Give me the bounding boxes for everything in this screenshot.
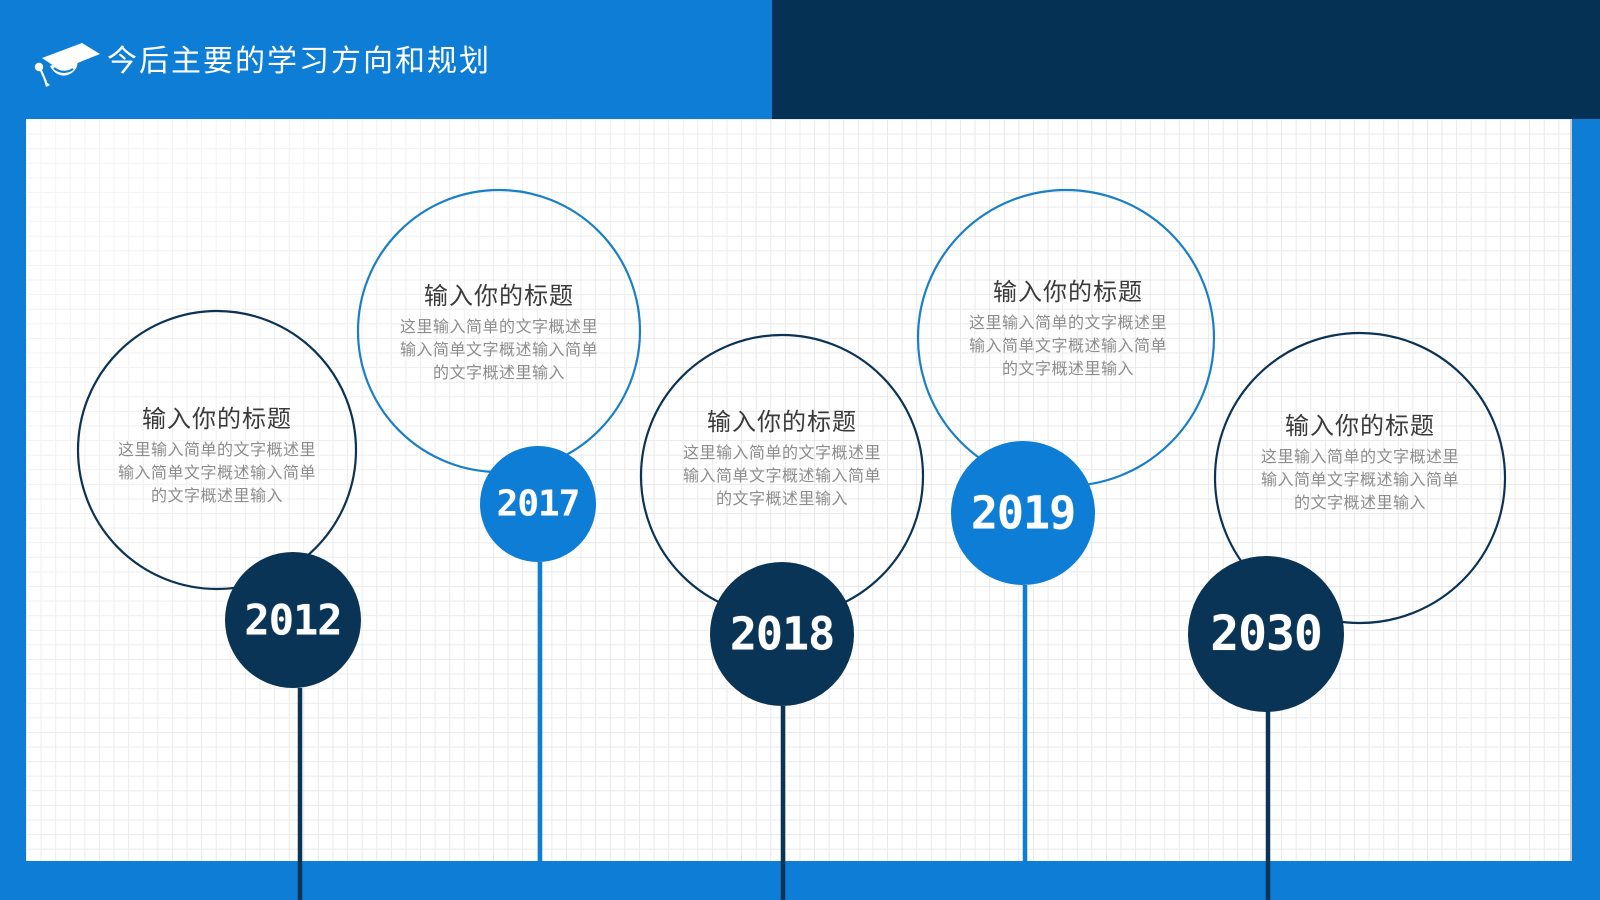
node-text-block-2030: 输入你的标题这里输入简单的文字概述里输入简单文字概述输入简单的文字概述里输入: [1221, 412, 1499, 515]
year-label-2017[interactable]: 2017: [497, 484, 580, 525]
node-body-line: 输入简单文字概述输入简单: [1221, 469, 1499, 492]
node-title-2019: 输入你的标题: [929, 278, 1207, 308]
node-body-line: 这里输入简单的文字概述里: [78, 439, 356, 462]
year-label-2012[interactable]: 2012: [244, 596, 341, 645]
node-body-2030: 这里输入简单的文字概述里输入简单文字概述输入简单的文字概述里输入: [1221, 446, 1499, 515]
node-body-line: 的文字概述里输入: [78, 485, 356, 508]
node-body-line: 这里输入简单的文字概述里: [643, 442, 921, 465]
node-text-block-2017: 输入你的标题这里输入简单的文字概述里输入简单文字概述输入简单的文字概述里输入: [360, 282, 638, 385]
node-body-2018: 这里输入简单的文字概述里输入简单文字概述输入简单的文字概述里输入: [643, 442, 921, 511]
node-title-2012: 输入你的标题: [78, 405, 356, 435]
node-body-line: 这里输入简单的文字概述里: [1221, 446, 1499, 469]
node-text-block-2018: 输入你的标题这里输入简单的文字概述里输入简单文字概述输入简单的文字概述里输入: [643, 408, 921, 511]
node-body-2012: 这里输入简单的文字概述里输入简单文字概述输入简单的文字概述里输入: [78, 439, 356, 508]
page-title: 今后主要的学习方向和规划: [107, 38, 491, 86]
slide-root: 今后主要的学习方向和规划 输入你的标题这里输入简单的文字概述里输入简单文字概述输…: [0, 0, 1600, 900]
node-body-line: 输入简单文字概述输入简单: [78, 462, 356, 485]
node-text-block-2019: 输入你的标题这里输入简单的文字概述里输入简单文字概述输入简单的文字概述里输入: [929, 278, 1207, 381]
node-body-2019: 这里输入简单的文字概述里输入简单文字概述输入简单的文字概述里输入: [929, 312, 1207, 381]
header-right-navy-panel: [772, 0, 1600, 119]
node-body-line: 输入简单文字概述输入简单: [929, 335, 1207, 358]
node-text-block-2012: 输入你的标题这里输入简单的文字概述里输入简单文字概述输入简单的文字概述里输入: [78, 405, 356, 508]
slide-header: 今后主要的学习方向和规划: [0, 0, 1600, 119]
year-label-2030[interactable]: 2030: [1210, 606, 1322, 662]
node-body-line: 输入简单文字概述输入简单: [643, 465, 921, 488]
node-title-2030: 输入你的标题: [1221, 412, 1499, 442]
year-label-2018[interactable]: 2018: [730, 608, 834, 661]
node-body-line: 的文字概述里输入: [929, 358, 1207, 381]
year-label-2019[interactable]: 2019: [971, 487, 1075, 540]
node-body-2017: 这里输入简单的文字概述里输入简单文字概述输入简单的文字概述里输入: [360, 316, 638, 385]
node-body-line: 输入简单文字概述输入简单: [360, 339, 638, 362]
node-body-line: 的文字概述里输入: [1221, 492, 1499, 515]
node-title-2018: 输入你的标题: [643, 408, 921, 438]
node-body-line: 的文字概述里输入: [360, 362, 638, 385]
node-body-line: 的文字概述里输入: [643, 488, 921, 511]
node-body-line: 这里输入简单的文字概述里: [929, 312, 1207, 335]
node-body-line: 这里输入简单的文字概述里: [360, 316, 638, 339]
node-title-2017: 输入你的标题: [360, 282, 638, 312]
graduation-cap-icon: [30, 40, 102, 88]
